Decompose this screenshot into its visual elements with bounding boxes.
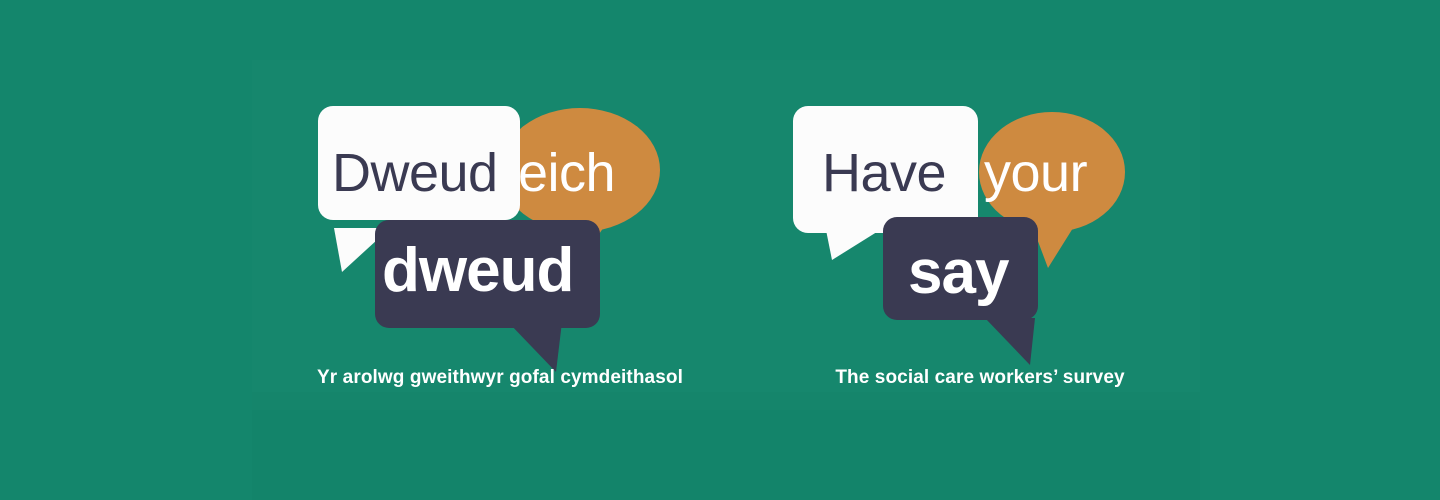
- lockup-word-secondary: your: [984, 146, 1087, 200]
- lockup-word-primary: Dweud: [332, 146, 498, 200]
- survey-banner: Dweud eich dweud Yr arolwg gweithwyr gof…: [0, 0, 1440, 500]
- lockup-caption-welsh: Yr arolwg gweithwyr gofal cymdeithasol: [290, 368, 710, 387]
- speech-bubbles-welsh-illustration: [290, 60, 710, 400]
- lockup-word-accent: dweud: [382, 240, 573, 302]
- lockup-word-primary: Have: [822, 146, 946, 200]
- background-panel-bottom: [252, 392, 1200, 500]
- lockup-english: Have your say The social care workers’ s…: [780, 60, 1180, 400]
- lockup-welsh: Dweud eich dweud Yr arolwg gweithwyr gof…: [290, 60, 710, 400]
- lockup-caption-english: The social care workers’ survey: [780, 368, 1180, 387]
- lockup-word-secondary: eich: [518, 146, 615, 200]
- lockup-word-accent: say: [908, 242, 1008, 304]
- speech-bubbles-english-illustration: [780, 60, 1180, 400]
